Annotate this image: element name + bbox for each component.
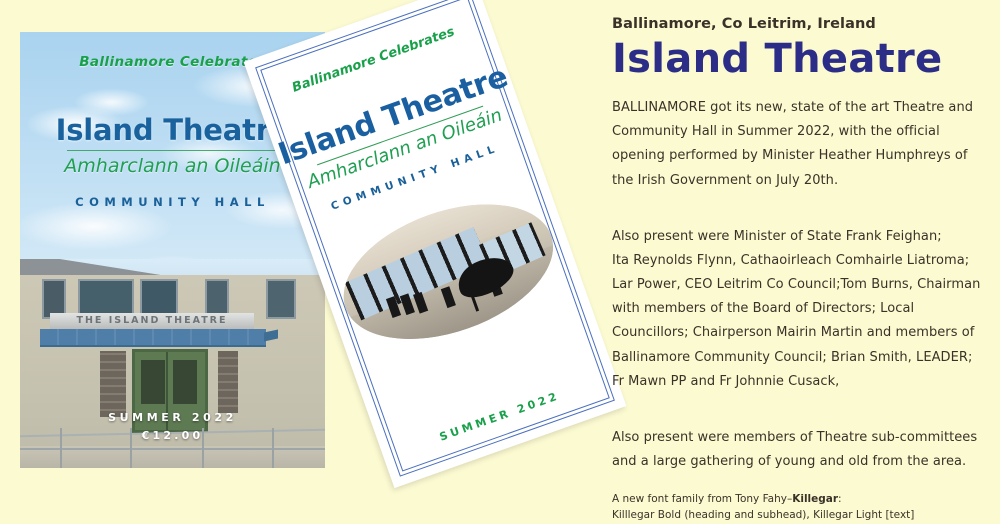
photo-stone-pier bbox=[100, 351, 126, 417]
paragraph-spacer bbox=[612, 394, 988, 410]
article-paragraph-1: BALLINAMORE got its new, state of the ar… bbox=[612, 96, 988, 193]
font-credit: A new font family from Tony Fahy–Killega… bbox=[612, 492, 988, 524]
paragraph-spacer bbox=[612, 193, 988, 209]
poster-composition: Ballinamore Celebrates Island Theatre Am… bbox=[0, 0, 1000, 500]
photo-door-glass bbox=[173, 360, 197, 404]
font-family-name: Killegar bbox=[792, 493, 838, 505]
photo-handrail bbox=[20, 448, 325, 450]
photo-door-glass bbox=[141, 360, 165, 404]
font-credit-line-2: Killlegar Bold (heading and subhead), Ki… bbox=[612, 508, 988, 524]
article-paragraph-2: Also present were Minister of State Fran… bbox=[612, 225, 988, 394]
article-line: the Irish Government on July 20th. bbox=[612, 169, 988, 193]
article-line: Lar Power, CEO Leitrim Co Council;Tom Bu… bbox=[612, 273, 988, 297]
font-credit-suffix: : bbox=[838, 493, 842, 505]
building-sign-text: THE ISLAND THEATRE bbox=[50, 313, 254, 329]
article-line: BALLINAMORE got its new, state of the ar… bbox=[612, 96, 988, 120]
poster-left-subtitle: COMMUNITY HALL bbox=[20, 195, 325, 209]
article-line: and a large gathering of young and old f… bbox=[612, 450, 988, 474]
article-line: Also present were Minister of State Fran… bbox=[612, 225, 988, 249]
poster-left-season: SUMMER 2022 bbox=[20, 411, 325, 424]
article-line: Fr Mawn PP and Fr Johnnie Cusack, bbox=[612, 370, 988, 394]
photo-stone-pier bbox=[218, 351, 238, 413]
poster-left-footer: SUMMER 2022 €12.00 bbox=[20, 411, 325, 442]
article-line: with members of the Board of Directors; … bbox=[612, 297, 988, 321]
photo-window bbox=[266, 279, 296, 319]
font-credit-prefix: A new font family from Tony Fahy– bbox=[612, 493, 792, 505]
photo-canopy bbox=[40, 329, 266, 347]
article-line: opening performed by Minister Heather Hu… bbox=[612, 144, 988, 168]
article-headline: Island Theatre bbox=[612, 38, 988, 80]
article-line: Also present were members of Theatre sub… bbox=[612, 426, 988, 450]
poster-left-divider-rule bbox=[67, 150, 279, 151]
article-paragraph-3: Also present were members of Theatre sub… bbox=[612, 426, 988, 474]
article-line: Community Hall in Summer 2022, with the … bbox=[612, 120, 988, 144]
article-line: Ita Reynolds Flynn, Cathaoirleach Comhai… bbox=[612, 249, 988, 273]
poster-left-price: €12.00 bbox=[20, 429, 325, 442]
article-line: Councillors; Chairperson Mairin Martin a… bbox=[612, 321, 988, 345]
article-kicker: Ballinamore, Co Leitrim, Ireland bbox=[612, 16, 988, 32]
article-column: Ballinamore, Co Leitrim, Ireland Island … bbox=[612, 16, 988, 524]
article-line: Ballinamore Community Council; Brian Smi… bbox=[612, 346, 988, 370]
font-credit-line-1: A new font family from Tony Fahy–Killega… bbox=[612, 492, 988, 508]
